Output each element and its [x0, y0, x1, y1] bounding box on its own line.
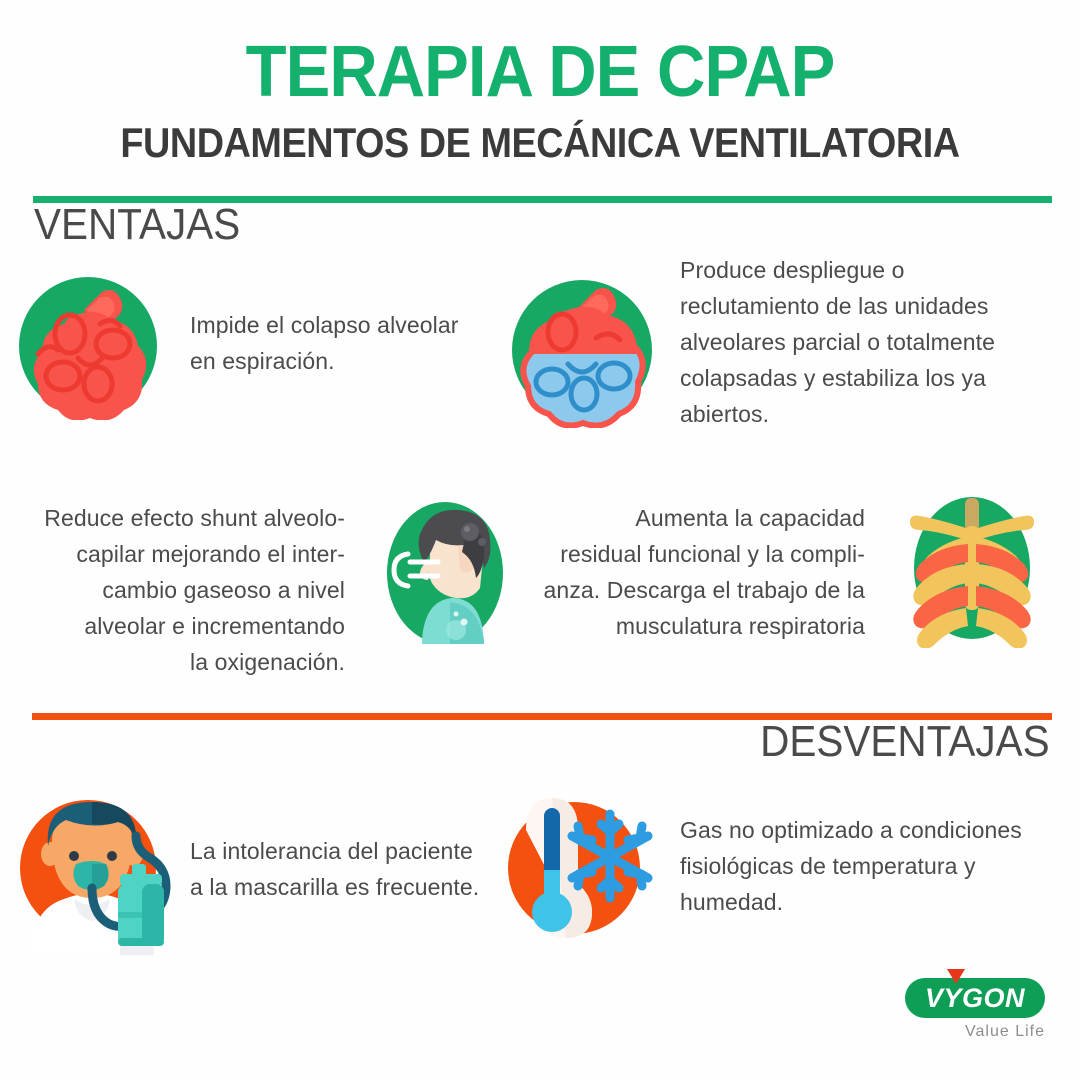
desventaja-text-1: La intolerancia del paciente a la mascar…: [190, 833, 520, 905]
text-line: reclutamiento de las unidades: [680, 288, 1020, 324]
text-line: musculatura respiratoria: [540, 608, 865, 644]
text-line: Reduce efecto shunt alveolo-: [10, 500, 345, 536]
ventaja-text-2: Produce despliegue o reclutamiento de la…: [680, 252, 1020, 432]
text-line: la oxigenación.: [10, 644, 345, 680]
text-line: abiertos.: [680, 396, 1020, 432]
text-line: humedad.: [680, 884, 1060, 920]
text-line: Aumenta la capacidad: [540, 500, 865, 536]
thermometer-snowflake-icon: [498, 786, 654, 946]
person-breathing-icon: [372, 498, 518, 648]
text-line: capilar mejorando el inter-: [10, 536, 345, 572]
text-line: fisiológicas de temperatura y: [680, 848, 1060, 884]
text-line: La intolerancia del paciente: [190, 833, 520, 869]
vygon-logo: VYGON Value Life: [905, 978, 1045, 1041]
text-line: Produce despliegue o: [680, 252, 1020, 288]
logo-pill: VYGON: [905, 978, 1045, 1018]
logo-tagline: Value Life: [905, 1023, 1045, 1041]
text-line: en espiración.: [190, 343, 490, 379]
text-line: anza. Descarga el trabajo de la: [540, 572, 865, 608]
text-line: colapsadas y estabiliza los ya: [680, 360, 1020, 396]
section-heading-ventajas: VENTAJAS: [34, 203, 240, 247]
text-line: a la mascarilla es frecuente.: [190, 869, 520, 905]
ribcage-icon: [896, 492, 1048, 648]
ventaja-text-3: Reduce efecto shunt alveolo- capilar mej…: [10, 500, 345, 680]
ventaja-text-1: Impide el colapso alveolar en espiración…: [190, 307, 490, 379]
text-line: residual funcional y la compli-: [540, 536, 865, 572]
section-heading-desventajas: DESVENTAJAS: [761, 720, 1050, 764]
logo-brand-text: VYGON: [905, 978, 1045, 1018]
alveoli-recruitment-icon: [504, 272, 660, 428]
text-line: alveolar e incrementando: [10, 608, 345, 644]
text-line: alveolares parcial o totalmente: [680, 324, 1020, 360]
page-subtitle: FUNDAMENTOS DE MECÁNICA VENTILATORIA: [54, 122, 1026, 164]
patient-oxygen-mask-icon: [8, 790, 184, 955]
text-line: Gas no optimizado a condiciones: [680, 812, 1060, 848]
infographic-page: TERAPIA DE CPAP FUNDAMENTOS DE MECÁNICA …: [0, 0, 1080, 1080]
alveoli-red-icon: [14, 272, 162, 420]
text-line: cambio gaseoso a nivel: [10, 572, 345, 608]
page-title: TERAPIA DE CPAP: [38, 36, 1042, 108]
text-line: Impide el colapso alveolar: [190, 307, 490, 343]
desventaja-text-2: Gas no optimizado a condiciones fisiológ…: [680, 812, 1060, 920]
ventaja-text-4: Aumenta la capacidad residual funcional …: [540, 500, 865, 644]
